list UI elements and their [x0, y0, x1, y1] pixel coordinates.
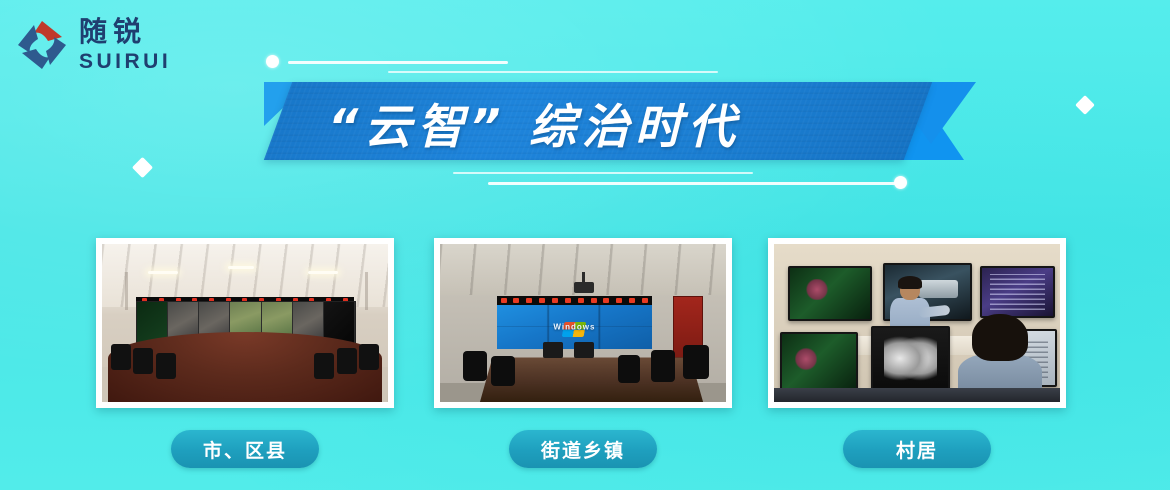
wall-panel — [365, 272, 368, 310]
desk — [774, 388, 1060, 402]
desk-monitor — [780, 332, 858, 393]
officer-hair — [898, 276, 922, 289]
slide-canvas: 随锐 SUIRUI “云智” 综治时代 — [0, 0, 1170, 490]
led-scroll-banner — [497, 296, 651, 305]
desk-monitor — [871, 326, 949, 396]
chair — [683, 345, 709, 379]
card-label-township[interactable]: 街道乡镇 — [509, 430, 657, 468]
wall-panel — [125, 272, 128, 310]
decor-line-bottom-2 — [488, 182, 898, 185]
cards-row: 市、区县 Windows — [0, 238, 1170, 488]
chair — [359, 344, 379, 370]
card-township[interactable]: Windows 街道乡镇 — [433, 238, 733, 468]
decor-dot-bottom-right — [894, 176, 907, 189]
decor-line-top-2 — [388, 71, 718, 73]
decor-dot-top-left — [266, 55, 279, 68]
wall-monitor — [788, 266, 872, 321]
photo-frame — [96, 238, 394, 408]
card-village[interactable]: 村居 — [767, 238, 1067, 468]
chair — [337, 348, 357, 374]
brand-name-en: SUIRUI — [79, 51, 171, 72]
card-city-district[interactable]: 市、区县 — [95, 238, 395, 468]
seated-person-head — [972, 314, 1029, 362]
page-title: “云智” 综治时代 — [328, 84, 888, 160]
wall-monitor — [980, 266, 1056, 317]
brand-name-cn: 随锐 — [79, 18, 171, 46]
suirui-pinwheel-logo-icon — [14, 17, 70, 73]
card-label-village[interactable]: 村居 — [843, 430, 991, 468]
chair — [651, 350, 675, 382]
photo-frame: Windows — [434, 238, 732, 408]
decor-diamond-left — [132, 157, 153, 178]
chair — [156, 353, 176, 379]
chair — [618, 355, 640, 383]
chair — [111, 344, 131, 370]
chair — [133, 348, 153, 374]
village-monitoring-room-photo — [774, 244, 1060, 402]
title-banner: “云智” 综治时代 — [258, 54, 948, 190]
decor-diamond-right — [1075, 95, 1095, 115]
microphone-unit — [543, 342, 563, 358]
projector — [574, 282, 594, 293]
chair — [463, 351, 487, 381]
decor-line-bottom-1 — [453, 172, 753, 174]
chair — [314, 353, 334, 379]
chair — [491, 356, 515, 386]
ceiling-light — [308, 271, 338, 274]
card-label-city-district[interactable]: 市、区县 — [171, 430, 319, 468]
city-district-command-center-photo — [102, 244, 388, 402]
ceiling-light — [148, 271, 178, 274]
microphone-unit — [574, 342, 594, 358]
brand-logo-text: 随锐 SUIRUI — [79, 18, 171, 72]
photo-frame — [768, 238, 1066, 408]
ceiling-light — [228, 266, 254, 269]
decor-line-top-1 — [288, 61, 508, 64]
township-meeting-room-photo: Windows — [440, 244, 726, 402]
windows-wordmark: Windows — [553, 322, 595, 331]
brand-logo: 随锐 SUIRUI — [14, 14, 214, 76]
